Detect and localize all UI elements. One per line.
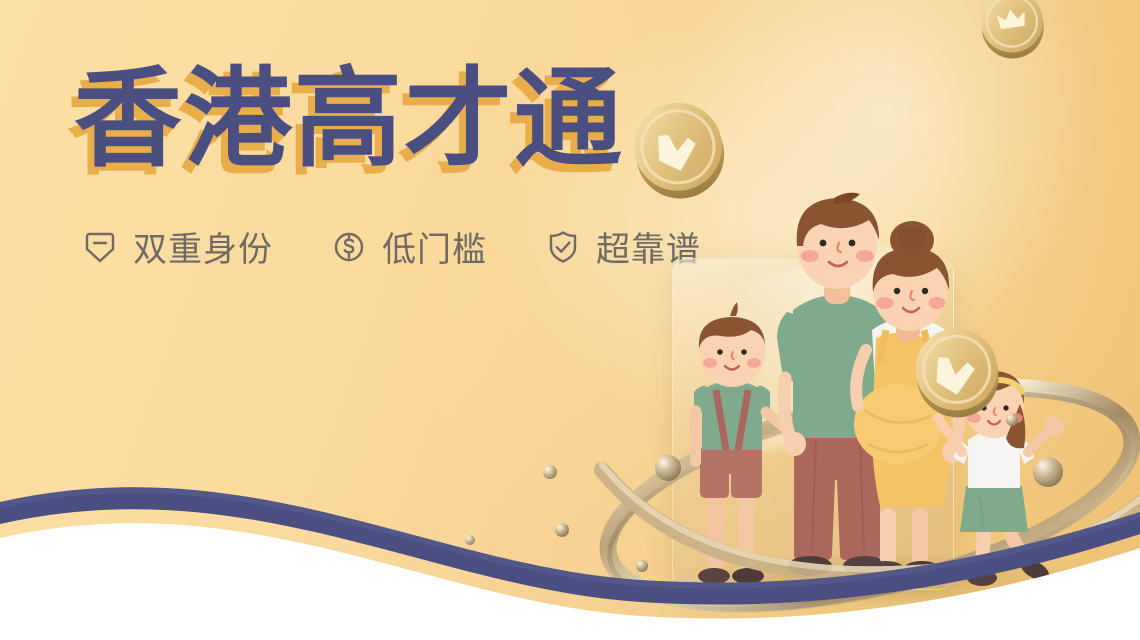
feature-label: 双重身份 [133, 222, 273, 271]
bottom-wave [0, 430, 1140, 640]
banner-title: 香港高才通 香港高才通 [74, 62, 624, 179]
dollar-circle-icon [329, 227, 369, 267]
title-block: 香港高才通 香港高才通 [74, 62, 624, 179]
banner-title-text: 香港高才通 [74, 62, 624, 179]
coin-top-right-crown [977, 0, 1048, 62]
shield-minus-icon [80, 227, 120, 267]
feature-item-dual-identity[interactable]: 双重身份 [80, 222, 273, 271]
promo-banner: 香港高才通 香港高才通 双重身份 低门槛 [0, 0, 1140, 640]
metal-sphere-tiny [1006, 414, 1018, 426]
coin-left-arrow [624, 92, 735, 209]
